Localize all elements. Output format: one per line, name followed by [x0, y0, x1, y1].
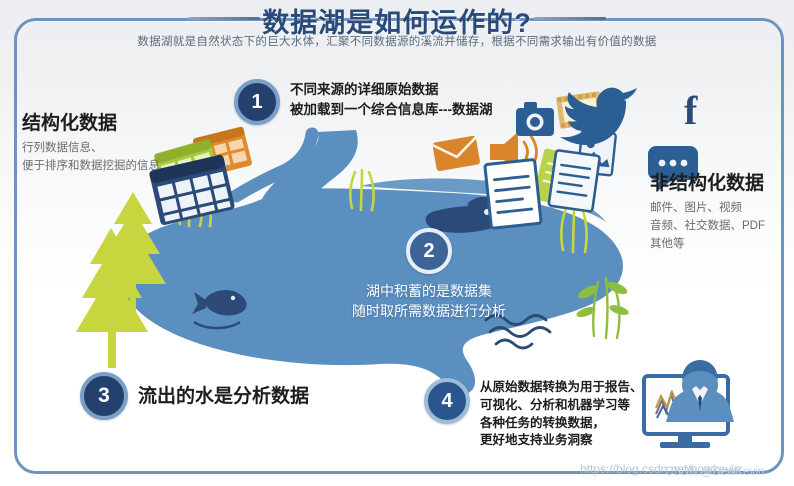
step-2-badge: 2 [406, 228, 452, 274]
step-1-badge: 1 [234, 79, 280, 125]
step-2: 2 湖中积蓄的是数据集 随时取所需数据进行分析 [352, 228, 506, 322]
step-4-line-2: 可视化、分析和机器学习等 [480, 397, 643, 415]
caption-structured-line-1: 行列数据信息、 [22, 140, 160, 158]
step-1: 1 不同来源的详细原始数据 被加载到一个综合信息库---数据湖 [234, 79, 493, 125]
page-subtitle: 数据湖就是自然状态下的巨大水体，汇聚不同数据源的溪流并储存，根据不同需求输出有价… [0, 33, 794, 49]
twitter-bird-icon [560, 88, 637, 145]
step-3-text: 流出的水是分析数据 [138, 382, 309, 411]
envelope-icon [432, 135, 480, 171]
step-2-text: 湖中积蓄的是数据集 随时取所需数据进行分析 [352, 280, 506, 322]
step-4-line-1: 从原始数据转换为用于报告、 [480, 379, 643, 397]
caption-unstructured-line-1: 邮件、图片、视频 [650, 200, 765, 218]
watermark-author: CSDN @DewKevin [665, 466, 764, 478]
infographic-page: f [0, 0, 794, 486]
document-icon [549, 150, 600, 212]
step-1-text: 不同来源的详细原始数据 被加载到一个综合信息库---数据湖 [290, 79, 493, 119]
step-4-text: 从原始数据转换为用于报告、 可视化、分析和机器学习等 各种任务的转换数据， 更好… [480, 378, 643, 450]
caption-structured-line-2: 便于排序和数据挖掘的信息 [22, 158, 160, 176]
step-2-line-1: 湖中积蓄的是数据集 [352, 281, 506, 301]
facebook-f-icon: f [684, 88, 698, 133]
camera-icon [516, 102, 554, 136]
step-1-line-1: 不同来源的详细原始数据 [290, 80, 493, 100]
caption-structured-data: 结构化数据 行列数据信息、 便于排序和数据挖掘的信息 [22, 108, 160, 176]
caption-unstructured-line-3: 其他等 [650, 236, 765, 254]
caption-unstructured-heading: 非结构化数据 [650, 168, 765, 195]
step-4-line-4: 更好地支持业务洞察 [480, 432, 643, 450]
document-icon [485, 159, 541, 228]
header: 数据湖是如何运作的? 数据湖就是自然状态下的巨大水体，汇聚不同数据源的溪流并储存… [0, 0, 794, 58]
step-3-badge: 3 [80, 372, 128, 420]
caption-structured-body: 行列数据信息、 便于排序和数据挖掘的信息 [22, 140, 160, 176]
step-4: 4 从原始数据转换为用于报告、 可视化、分析和机器学习等 各种任务的转换数据， … [424, 378, 643, 450]
step-3: 3 流出的水是分析数据 [80, 372, 309, 420]
svg-text:f: f [684, 88, 698, 133]
caption-unstructured-body: 邮件、图片、视频 音频、社交数据、PDF 其他等 [650, 200, 765, 253]
step-4-line-3: 各种任务的转换数据， [480, 415, 643, 433]
step-3-line-1: 流出的水是分析数据 [138, 383, 309, 411]
caption-unstructured-data: 非结构化数据 邮件、图片、视频 音频、社交数据、PDF 其他等 [650, 168, 765, 253]
step-1-line-2: 被加载到一个综合信息库---数据湖 [290, 100, 493, 120]
caption-structured-heading: 结构化数据 [22, 108, 160, 135]
caption-unstructured-line-2: 音频、社交数据、PDF [650, 218, 765, 236]
step-4-badge: 4 [424, 378, 470, 424]
step-2-line-2: 随时取所需数据进行分析 [352, 301, 506, 321]
